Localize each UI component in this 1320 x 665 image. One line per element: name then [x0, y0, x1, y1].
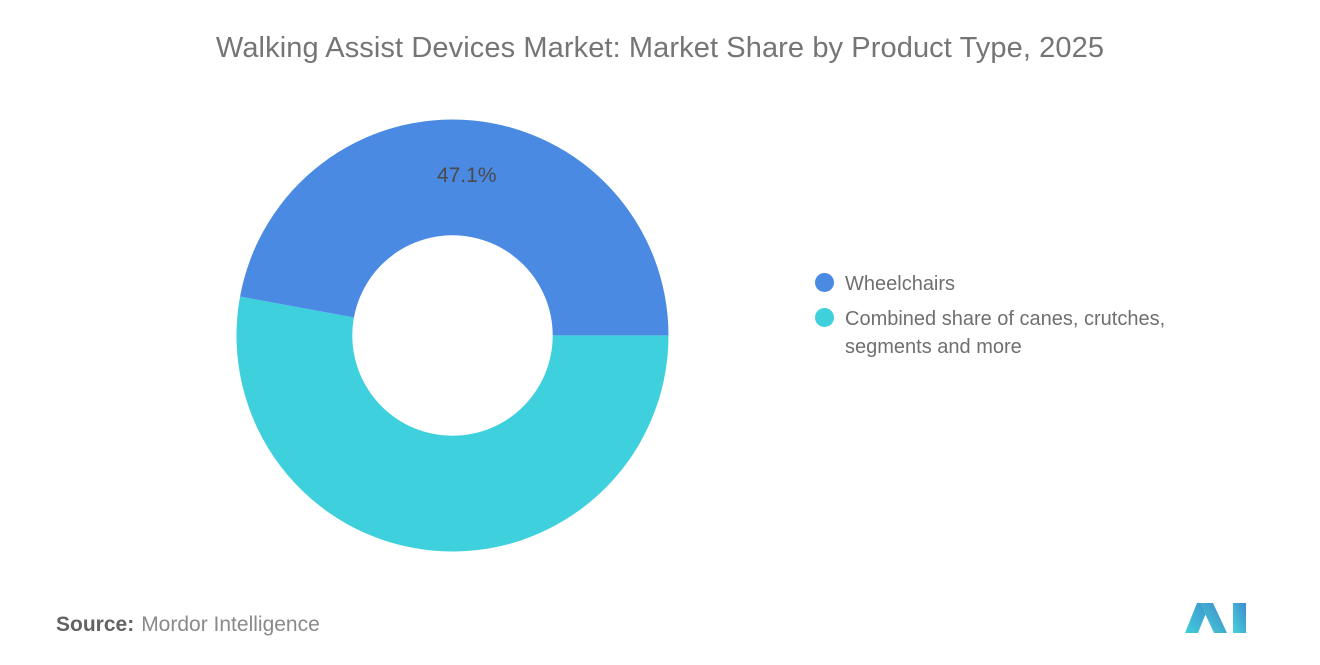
legend-item-wheelchairs[interactable]: Wheelchairs [815, 270, 1235, 298]
legend-item-combined[interactable]: Combined share of canes, crutches, segme… [815, 305, 1235, 361]
source-line: Source:Mordor Intelligence [56, 610, 320, 640]
legend-label-combined: Combined share of canes, crutches, segme… [845, 305, 1217, 361]
donut-chart: 47.1% [236, 119, 669, 552]
chart-figure: Walking Assist Devices Market: Market Sh… [0, 0, 1320, 665]
source-value: Mordor Intelligence [141, 613, 320, 636]
source-label: Source: [56, 613, 134, 636]
chart-title: Walking Assist Devices Market: Market Sh… [0, 28, 1320, 68]
legend-swatch-icon-combined [815, 308, 834, 327]
donut-hole [352, 235, 552, 435]
legend-label-wheelchairs: Wheelchairs [845, 270, 955, 298]
chart-legend: Wheelchairs Combined share of canes, cru… [815, 270, 1235, 368]
donut-chart-svg [236, 119, 669, 552]
mordor-intelligence-logo-icon [1183, 597, 1255, 637]
legend-swatch-icon-wheelchairs [815, 273, 834, 292]
